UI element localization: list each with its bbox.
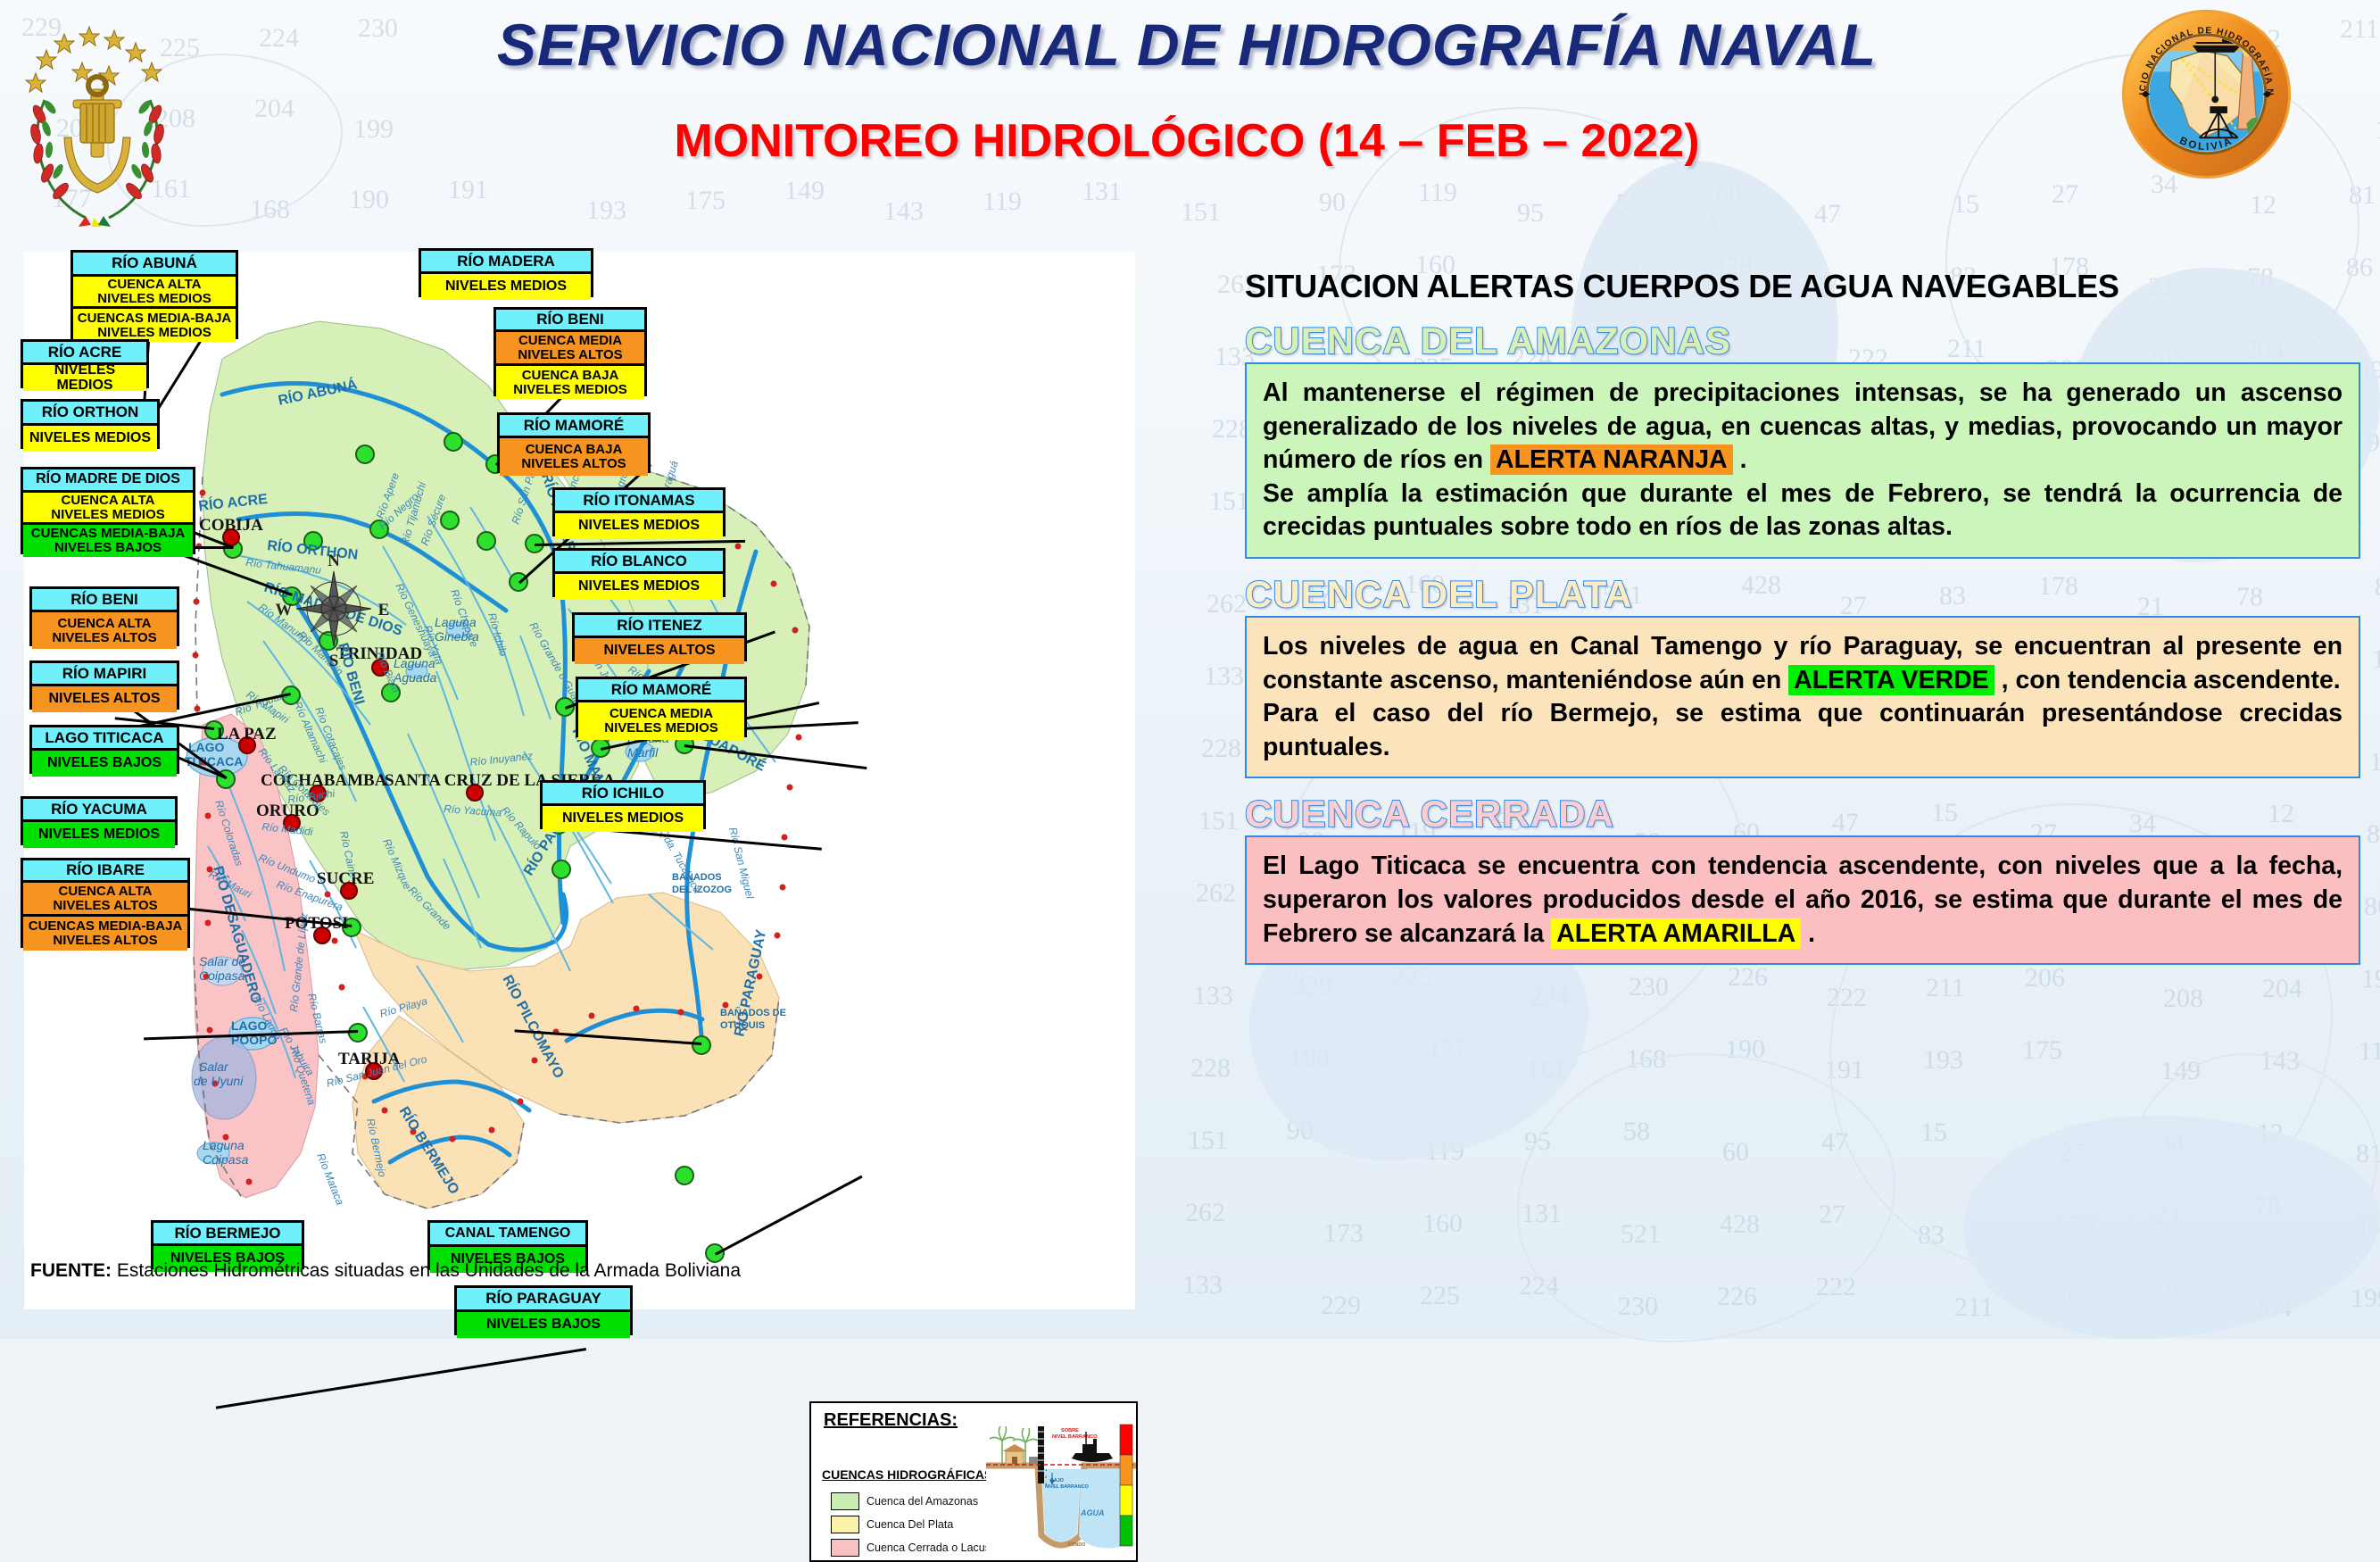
chart-depth-sounding: 199: [2372, 644, 2380, 675]
chart-depth-sounding: 119: [2359, 1036, 2380, 1067]
source-label: FUENTE:: [30, 1260, 112, 1281]
callout-level-row: NIVELES ALTOS: [575, 638, 744, 664]
basin-body-plata: Los niveles de agua en Canal Tamengo y r…: [1245, 616, 2360, 778]
riverbank-level-diagram: 123 SOBRE NIVEL BARRANCO BAJO NIVEL BARR…: [986, 1419, 1136, 1560]
chart-sea-area: [1963, 1116, 2380, 1339]
callout-title: RÍO IBARE: [23, 860, 187, 883]
legend-swatch-cerrada: [831, 1539, 859, 1557]
callout-level-row: CUENCA BAJA NIVELES MEDIOS: [496, 366, 644, 399]
chart-depth-sounding: 229: [1321, 1291, 1361, 1321]
svg-text:de Uyuni: de Uyuni: [194, 1074, 244, 1088]
alert-badge-verde: ALERTA VERDE: [1788, 665, 1994, 695]
paragraph-text: .: [1733, 445, 1747, 474]
svg-text:FONDO: FONDO: [1068, 1542, 1085, 1548]
legend-swatch-amazonas: [831, 1492, 859, 1510]
references-box: REFERENCIAS: CUENCAS HIDROGRÁFICAS Cuenc…: [809, 1401, 1138, 1562]
callout-rio-yacuma[interactable]: RÍO YACUMA NIVELES MEDIOS: [21, 796, 178, 845]
paragraph-text: .: [1801, 919, 1815, 948]
callout-level-row: NIVELES MEDIOS: [421, 274, 591, 300]
svg-text:AGUA: AGUA: [1080, 1508, 1105, 1517]
paragraph-text: Se amplía la estimación que durante el m…: [1263, 479, 2343, 542]
alerts-heading: SITUACION ALERTAS CUERPOS DE AGUA NAVEGA…: [1245, 268, 2360, 305]
chart-depth-sounding: 199: [2361, 964, 2380, 994]
callout-rio-blanco[interactable]: RÍO BLANCO NIVELES MEDIOS: [552, 548, 726, 597]
city-label-la-paz: LA PAZ: [217, 725, 277, 744]
alerts-column: SITUACION ALERTAS CUERPOS DE AGUA NAVEGA…: [1245, 268, 2360, 972]
callout-rio-abuna[interactable]: RÍO ABUNÁ CUENCA ALTA NIVELES MEDIOS CUE…: [70, 250, 238, 339]
alert-badge-naranja: ALERTA NARANJA: [1490, 445, 1733, 475]
city-label-cobija: COBIJA: [199, 516, 263, 535]
callout-rio-orthon[interactable]: RÍO ORTHON NIVELES MEDIOS: [21, 399, 160, 449]
svg-text:Coipasa: Coipasa: [203, 1152, 249, 1167]
callout-rio-beni-media[interactable]: RÍO BENI CUENCA MEDIA NIVELES ALTOS CUEN…: [493, 307, 647, 396]
callout-rio-madera[interactable]: RÍO MADERA NIVELES MEDIOS: [419, 248, 593, 297]
page-subtitle: MONITOREO HIDROLÓGICO (14 – FEB – 2022): [294, 114, 2079, 168]
legend-label-cerrada: Cuenca Cerrada o Lacustre: [867, 1541, 1004, 1554]
callout-level-row: CUENCA ALTA NIVELES MEDIOS: [73, 277, 236, 309]
chart-depth-sounding: 151: [1198, 806, 1239, 836]
chart-depth-sounding: 86: [2375, 572, 2380, 602]
chart-depth-sounding: 133: [1182, 1270, 1223, 1300]
callout-title: RÍO MADRE DE DIOS: [23, 469, 193, 493]
chart-depth-sounding: 119: [2369, 747, 2380, 777]
callout-title: RÍO MAMORÉ: [500, 415, 648, 438]
section-amazonas: CUENCA DEL AMAZONAS Al mantenerse el rég…: [1245, 320, 2360, 559]
hydrology-map-panel: COBIJA TRINIDAD LA PAZ COCHABAMBA ORURO …: [24, 252, 1135, 1309]
legend-label-plata: Cuenca Del Plata: [867, 1518, 953, 1531]
callout-title: RÍO PARAGUAY: [457, 1288, 630, 1312]
svg-text:Río Mataca: Río Mataca: [314, 1151, 346, 1207]
callout-level-row: NIVELES ALTOS: [32, 686, 177, 712]
callout-lago-titicaca[interactable]: LAGO TITICACA NIVELES BAJOS: [29, 725, 179, 774]
source-note: FUENTE: Estaciones Hidrométricas situada…: [30, 1260, 741, 1282]
basin-body-cerrada: El Lago Titicaca se encuentra con tenden…: [1245, 835, 2360, 965]
chart-depth-sounding: 262: [1185, 1198, 1225, 1228]
callout-title: RÍO ITENEZ: [575, 615, 744, 638]
callout-level-row: CUENCA MEDIA NIVELES MEDIOS: [578, 702, 744, 740]
callout-level-row: NIVELES MEDIOS: [555, 513, 723, 539]
bolivian-naval-coat-of-arms: [9, 4, 187, 227]
chart-depth-sounding: 86: [2364, 892, 2380, 922]
paragraph-text: Para el caso del río Bermejo, se estima …: [1263, 699, 2343, 761]
callout-level-row: NIVELES MEDIOS: [23, 365, 146, 391]
chart-depth-sounding: 211: [1954, 1292, 1994, 1323]
callout-title: RÍO MADERA: [421, 251, 591, 274]
city-label-sucre: SUCRE: [317, 869, 374, 888]
callout-rio-acre[interactable]: RÍO ACRE NIVELES MEDIOS: [21, 339, 149, 388]
references-subtitle: CUENCAS HIDROGRÁFICAS: [822, 1467, 992, 1482]
callout-rio-paraguay[interactable]: RÍO PARAGUAY NIVELES BAJOS: [454, 1285, 633, 1335]
callout-level-row: CUENCAS MEDIA-BAJA NIVELES MEDIOS: [73, 309, 236, 342]
chart-depth-sounding: 151: [1188, 1126, 1228, 1156]
callout-level-row: CUENCAS MEDIA-BAJA NIVELES ALTOS: [23, 917, 187, 951]
legend-label-amazonas: Cuenca del Amazonas: [867, 1495, 978, 1508]
callout-level-row: NIVELES MEDIOS: [543, 806, 703, 832]
callout-title: RÍO MAPIRI: [32, 663, 177, 686]
callout-title: CANAL TAMENGO: [430, 1223, 585, 1247]
section-plata: CUENCA DEL PLATA Los niveles de agua en …: [1245, 573, 2360, 778]
callout-level-row: CUENCAS MEDIA-BAJA NIVELES BAJOS: [23, 525, 193, 557]
chart-depth-sounding: 160: [1422, 1209, 1463, 1239]
callout-level-row: NIVELES MEDIOS: [23, 822, 175, 848]
page-title: SERVICIO NACIONAL DE HIDROGRAFÍA NAVAL: [294, 11, 2079, 79]
chart-depth-sounding: 173: [1323, 1218, 1364, 1249]
basin-heading-amazonas: CUENCA DEL AMAZONAS: [1245, 320, 2360, 362]
svg-text:S: S: [329, 652, 339, 670]
callout-rio-beni-alta[interactable]: RÍO BENI CUENCA ALTA NIVELES ALTOS: [29, 586, 179, 646]
callout-level-row: CUENCA ALTA NIVELES ALTOS: [32, 612, 177, 649]
callout-rio-mamore-baja[interactable]: RÍO MAMORÉ CUENCA BAJA NIVELES ALTOS: [497, 412, 651, 473]
callout-title: RÍO YACUMA: [23, 799, 175, 822]
chart-depth-sounding: 133: [1204, 661, 1244, 692]
callout-level-row: CUENCA BAJA NIVELES ALTOS: [500, 438, 648, 476]
callout-rio-madre-de-dios[interactable]: RÍO MADRE DE DIOS CUENCA ALTA NIVELES ME…: [21, 467, 195, 554]
callout-title: RÍO MAMORÉ: [578, 679, 744, 702]
svg-text:NIVEL BARRANCO: NIVEL BARRANCO: [1045, 1484, 1089, 1490]
references-title: REFERENCIAS:: [824, 1410, 958, 1431]
callout-title: RÍO ORTHON: [23, 402, 157, 426]
svg-text:SOBRE: SOBRE: [1061, 1428, 1079, 1433]
callout-rio-itenez[interactable]: RÍO ITENEZ NIVELES ALTOS: [572, 612, 747, 661]
callout-rio-mamore-media[interactable]: RÍO MAMORÉ CUENCA MEDIA NIVELES MEDIOS: [576, 677, 747, 737]
chart-depth-sounding: 228: [1201, 734, 1241, 764]
chart-depth-sounding: 199: [2351, 1284, 2380, 1314]
paragraph-text: Al mantenerse el régimen de precipitacio…: [1263, 378, 2343, 474]
callout-level-row: NIVELES BAJOS: [32, 751, 177, 777]
callout-title: RÍO BENI: [32, 589, 177, 612]
callout-level-row: NIVELES MEDIOS: [555, 574, 723, 600]
svg-text:Laguna: Laguna: [203, 1138, 245, 1152]
callout-level-row: NIVELES BAJOS: [457, 1312, 630, 1338]
callout-title: RÍO ITONAMAS: [555, 490, 723, 513]
chart-depth-sounding: 228: [1190, 1053, 1231, 1084]
callout-title: RÍO BENI: [496, 310, 644, 332]
snhn-bolivia-seal: SERVICIO NACIONAL DE HIDROGRAFÍA NAVAL B…: [2119, 7, 2293, 181]
svg-text:NIVEL BARRANCO: NIVEL BARRANCO: [1052, 1434, 1098, 1440]
callout-rio-ibare[interactable]: RÍO IBARE CUENCA ALTA NIVELES ALTOS CUEN…: [21, 858, 190, 948]
svg-text:W: W: [276, 601, 293, 619]
paragraph-text: , con tendencia ascendente.: [1994, 666, 2341, 694]
chart-depth-sounding: 262: [1207, 589, 1247, 619]
svg-text:E: E: [378, 601, 390, 619]
callout-title: RÍO ICHILO: [543, 783, 703, 806]
callout-title: RÍO ABUNÁ: [73, 253, 236, 277]
svg-text:N: N: [328, 552, 340, 570]
alert-badge-amarilla: ALERTA AMARILLA: [1551, 918, 1801, 949]
chart-depth-sounding: 225: [1420, 1281, 1460, 1311]
basin-heading-cerrada: CUENCA CERRADA: [1245, 793, 2360, 835]
callout-rio-itonamas[interactable]: RÍO ITONAMAS NIVELES MEDIOS: [552, 487, 726, 536]
basin-body-amazonas: Al mantenerse el régimen de precipitacio…: [1245, 362, 2360, 559]
callout-level-row: NIVELES MEDIOS: [23, 426, 157, 452]
svg-text:Salar: Salar: [199, 1059, 229, 1074]
chart-depth-sounding: 133: [1193, 981, 1233, 1011]
callout-level-row: CUENCA MEDIA NIVELES ALTOS: [496, 332, 644, 366]
legend-swatch-plata: [831, 1516, 859, 1533]
section-cerrada: CUENCA CERRADA El Lago Titicaca se encue…: [1245, 793, 2360, 965]
callout-level-row: CUENCA ALTA NIVELES MEDIOS: [23, 493, 193, 525]
leader-line: [216, 1348, 586, 1409]
callout-rio-mapiri[interactable]: RÍO MAPIRI NIVELES ALTOS: [29, 661, 179, 710]
basin-heading-plata: CUENCA DEL PLATA: [1245, 573, 2360, 616]
chart-depth-sounding: 262: [1196, 878, 1236, 909]
svg-text:Coipasa: Coipasa: [199, 968, 245, 983]
callout-title: RÍO BERMEJO: [153, 1223, 302, 1246]
svg-text:BAÑADOS DE: BAÑADOS DE: [720, 1007, 786, 1018]
chart-depth-sounding: 81: [2367, 819, 2380, 850]
callout-title: RÍO BLANCO: [555, 551, 723, 574]
callout-level-row: CUENCA ALTA NIVELES ALTOS: [23, 883, 187, 917]
page-header: SERVICIO NACIONAL DE HIDROGRAFÍA NAVAL M…: [0, 0, 2380, 245]
source-text: Estaciones Hidrométricas situadas en las…: [112, 1260, 741, 1281]
chart-depth-sounding: 151: [1209, 486, 1249, 517]
callout-rio-ichilo[interactable]: RÍO ICHILO NIVELES MEDIOS: [540, 780, 706, 829]
callout-title: LAGO TITICACA: [32, 727, 177, 751]
svg-text:Marfil: Marfil: [627, 745, 659, 760]
